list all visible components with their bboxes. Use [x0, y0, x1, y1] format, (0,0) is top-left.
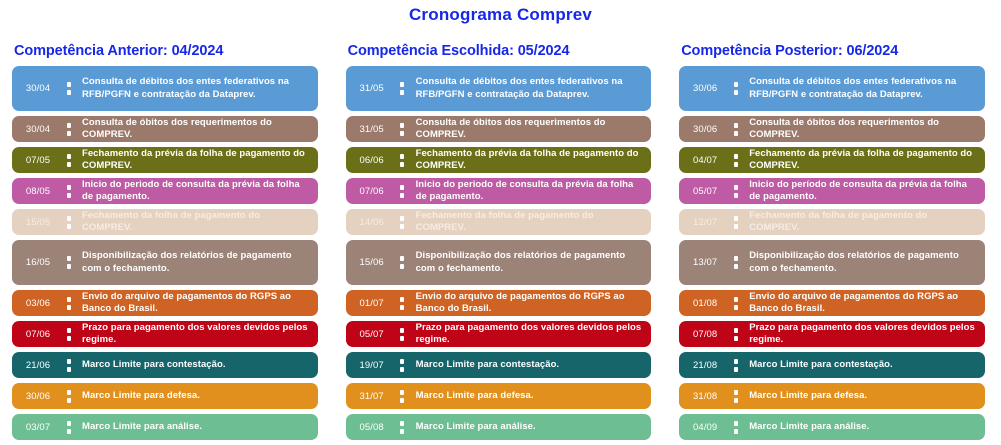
- timeline-row-date: 06/06: [346, 155, 398, 166]
- timeline-row-label: Disponibilização dos relatórios de pagam…: [740, 250, 985, 275]
- timeline-row-date: 30/06: [679, 124, 731, 135]
- timeline-row-label: Consulta de débitos dos entes federativo…: [740, 76, 985, 101]
- timeline-row-date: 05/08: [346, 422, 398, 433]
- timeline-row-label: Inicio do período de consulta da prévia …: [740, 179, 985, 204]
- timeline-row-date: 31/07: [346, 391, 398, 402]
- dashed-divider-icon: [64, 290, 73, 316]
- timeline-row-date: 21/06: [12, 360, 64, 371]
- timeline-row-date: 07/06: [346, 186, 398, 197]
- dashed-divider-icon: [398, 352, 407, 378]
- timeline-row-label: Envio do arquivo de pagamentos do RGPS a…: [740, 291, 985, 316]
- timeline-row-date: 30/04: [12, 124, 64, 135]
- timeline-row[interactable]: 03/06Envio do arquivo de pagamentos do R…: [12, 290, 318, 316]
- timeline-row[interactable]: 07/06Prazo para pagamento dos valores de…: [12, 321, 318, 347]
- timeline-row-label: Consulta de óbitos dos requerimentos do …: [73, 117, 318, 142]
- timeline-row-list: 30/06Consulta de débitos dos entes feder…: [679, 66, 985, 445]
- dashed-divider-icon: [398, 383, 407, 409]
- timeline-row-date: 15/05: [12, 217, 64, 228]
- timeline-row-date: 31/05: [346, 124, 398, 135]
- timeline-row[interactable]: 03/07Marco Limite para análise.: [12, 414, 318, 440]
- timeline-row-date: 31/08: [679, 391, 731, 402]
- timeline-row-date: 03/07: [12, 422, 64, 433]
- column-title: Competência Anterior: 04/2024: [14, 43, 318, 59]
- dashed-divider-icon: [398, 209, 407, 235]
- timeline-row-label: Envio do arquivo de pagamentos do RGPS a…: [73, 291, 318, 316]
- timeline-row[interactable]: 30/06Consulta de débitos dos entes feder…: [679, 66, 985, 111]
- timeline-row[interactable]: 05/07Prazo para pagamento dos valores de…: [346, 321, 652, 347]
- timeline-row-date: 04/09: [679, 422, 731, 433]
- dashed-divider-icon: [731, 178, 740, 204]
- timeline-row[interactable]: 15/05Fechamento da folha de pagamento do…: [12, 209, 318, 235]
- timeline-columns: Competência Anterior: 04/202430/04Consul…: [0, 29, 1001, 445]
- dashed-divider-icon: [731, 414, 740, 440]
- timeline-row-date: 19/07: [346, 360, 398, 371]
- timeline-row-label: Fechamento da folha de pagamento do COMP…: [740, 210, 985, 235]
- timeline-row-list: 30/04Consulta de débitos dos entes feder…: [12, 66, 318, 445]
- dashed-divider-icon: [398, 321, 407, 347]
- timeline-row-label: Disponibilização dos relatórios de pagam…: [73, 250, 318, 275]
- timeline-row-label: Fechamento da folha de pagamento do COMP…: [407, 210, 652, 235]
- timeline-row-label: Disponibilização dos relatórios de pagam…: [407, 250, 652, 275]
- dashed-divider-icon: [731, 209, 740, 235]
- timeline-row-label: Marco Limite para contestação.: [73, 359, 318, 372]
- timeline-row[interactable]: 01/07Envio do arquivo de pagamentos do R…: [346, 290, 652, 316]
- timeline-row-date: 07/05: [12, 155, 64, 166]
- dashed-divider-icon: [64, 321, 73, 347]
- timeline-row-date: 30/04: [12, 83, 64, 94]
- timeline-row-date: 15/06: [346, 257, 398, 268]
- timeline-row-label: Fechamento da prévia da folha de pagamen…: [740, 148, 985, 173]
- timeline-row-label: Marco Limite para defesa.: [740, 390, 985, 403]
- timeline-row[interactable]: 01/08Envio do arquivo de pagamentos do R…: [679, 290, 985, 316]
- timeline-row-label: Marco Limite para contestação.: [740, 359, 985, 372]
- dashed-divider-icon: [398, 240, 407, 285]
- timeline-row[interactable]: 30/06Marco Limite para defesa.: [12, 383, 318, 409]
- timeline-row-label: Consulta de óbitos dos requerimentos do …: [740, 117, 985, 142]
- timeline-row-label: Marco Limite para análise.: [407, 421, 652, 434]
- dashed-divider-icon: [64, 383, 73, 409]
- timeline-row-label: Marco Limite para defesa.: [407, 390, 652, 403]
- timeline-row-label: Consulta de débitos dos entes federativo…: [73, 76, 318, 101]
- dashed-divider-icon: [64, 414, 73, 440]
- timeline-row[interactable]: 15/06Disponibilização dos relatórios de …: [346, 240, 652, 285]
- dashed-divider-icon: [731, 116, 740, 142]
- timeline-column: Competência Anterior: 04/202430/04Consul…: [0, 29, 334, 445]
- timeline-row-label: Inicio do periodo de consulta da prévia …: [407, 179, 652, 204]
- timeline-row-label: Marco Limite para análise.: [740, 421, 985, 434]
- timeline-row[interactable]: 19/07Marco Limite para contestação.: [346, 352, 652, 378]
- timeline-row[interactable]: 30/04Consulta de débitos dos entes feder…: [12, 66, 318, 111]
- timeline-row-label: Consulta de débitos dos entes federativo…: [407, 76, 652, 101]
- dashed-divider-icon: [64, 66, 73, 111]
- dashed-divider-icon: [398, 414, 407, 440]
- dashed-divider-icon: [64, 240, 73, 285]
- timeline-row[interactable]: 21/06Marco Limite para contestação.: [12, 352, 318, 378]
- timeline-row[interactable]: 14/06Fechamento da folha de pagamento do…: [346, 209, 652, 235]
- timeline-row-date: 13/07: [679, 257, 731, 268]
- dashed-divider-icon: [64, 147, 73, 173]
- timeline-row-label: Marco Limite para análise.: [73, 421, 318, 434]
- timeline-row-date: 04/07: [679, 155, 731, 166]
- timeline-row-date: 01/08: [679, 298, 731, 309]
- timeline-row[interactable]: 31/08Marco Limite para defesa.: [679, 383, 985, 409]
- timeline-row[interactable]: 30/04Consulta de óbitos dos requerimento…: [12, 116, 318, 142]
- timeline-row-date: 21/08: [679, 360, 731, 371]
- timeline-row[interactable]: 04/09Marco Limite para análise.: [679, 414, 985, 440]
- timeline-row-date: 01/07: [346, 298, 398, 309]
- timeline-row[interactable]: 04/07Fechamento da prévia da folha de pa…: [679, 147, 985, 173]
- timeline-row[interactable]: 06/06Fechamento da prévia da folha de pa…: [346, 147, 652, 173]
- timeline-row-date: 08/05: [12, 186, 64, 197]
- timeline-row-label: Prazo para pagamento dos valores devidos…: [73, 322, 318, 347]
- timeline-row-label: Fechamento da prévia da folha de pagamen…: [73, 148, 318, 173]
- timeline-row-list: 31/05Consulta de débitos dos entes feder…: [346, 66, 652, 445]
- timeline-row-label: Fechamento da folha de pagamento do COMP…: [73, 210, 318, 235]
- timeline-row-label: Marco Limite para defesa.: [73, 390, 318, 403]
- timeline-row-date: 12/07: [679, 217, 731, 228]
- timeline-row-label: Envio do arquivo de pagamentos do RGPS a…: [407, 291, 652, 316]
- timeline-row[interactable]: 07/06Inicio do periodo de consulta da pr…: [346, 178, 652, 204]
- timeline-row-date: 14/06: [346, 217, 398, 228]
- timeline-row-date: 07/08: [679, 329, 731, 340]
- timeline-row-label: Fechamento da prévia da folha de pagamen…: [407, 148, 652, 173]
- dashed-divider-icon: [731, 240, 740, 285]
- timeline-row-date: 05/07: [679, 186, 731, 197]
- dashed-divider-icon: [398, 66, 407, 111]
- dashed-divider-icon: [64, 116, 73, 142]
- dashed-divider-icon: [398, 147, 407, 173]
- timeline-column: Competência Posterior: 06/202430/06Consu…: [667, 29, 1001, 445]
- dashed-divider-icon: [731, 383, 740, 409]
- timeline-row[interactable]: 05/08Marco Limite para análise.: [346, 414, 652, 440]
- dashed-divider-icon: [731, 290, 740, 316]
- timeline-row[interactable]: 05/07Inicio do período de consulta da pr…: [679, 178, 985, 204]
- timeline-row-label: Prazo para pagamento dos valores devidos…: [740, 322, 985, 347]
- column-title: Competência Escolhida: 05/2024: [348, 43, 652, 59]
- dashed-divider-icon: [64, 209, 73, 235]
- timeline-row-date: 31/05: [346, 83, 398, 94]
- timeline-column: Competência Escolhida: 05/202431/05Consu…: [334, 29, 668, 445]
- column-title: Competência Posterior: 06/2024: [681, 43, 985, 59]
- page-title: Cronograma Comprev: [0, 0, 1001, 29]
- timeline-row[interactable]: 30/06Consulta de óbitos dos requerimento…: [679, 116, 985, 142]
- timeline-row-label: Consulta de óbitos dos requerimentos do …: [407, 117, 652, 142]
- timeline-row-date: 16/05: [12, 257, 64, 268]
- timeline-row[interactable]: 08/05Inicio do periodo de consulta da pr…: [12, 178, 318, 204]
- dashed-divider-icon: [731, 321, 740, 347]
- timeline-row-label: Marco Limite para contestação.: [407, 359, 652, 372]
- dashed-divider-icon: [731, 147, 740, 173]
- dashed-divider-icon: [731, 66, 740, 111]
- timeline-row-label: Prazo para pagamento dos valores devidos…: [407, 322, 652, 347]
- dashed-divider-icon: [398, 116, 407, 142]
- timeline-row[interactable]: 07/08Prazo para pagamento dos valores de…: [679, 321, 985, 347]
- timeline-row[interactable]: 21/08Marco Limite para contestação.: [679, 352, 985, 378]
- timeline-row[interactable]: 31/05Consulta de óbitos dos requerimento…: [346, 116, 652, 142]
- timeline-row[interactable]: 12/07Fechamento da folha de pagamento do…: [679, 209, 985, 235]
- dashed-divider-icon: [64, 178, 73, 204]
- timeline-row[interactable]: 31/07Marco Limite para defesa.: [346, 383, 652, 409]
- dashed-divider-icon: [398, 290, 407, 316]
- timeline-row[interactable]: 16/05Disponibilização dos relatórios de …: [12, 240, 318, 285]
- timeline-row-label: Inicio do periodo de consulta da prévia …: [73, 179, 318, 204]
- timeline-row-date: 05/07: [346, 329, 398, 340]
- timeline-row-date: 30/06: [679, 83, 731, 94]
- timeline-row[interactable]: 07/05Fechamento da prévia da folha de pa…: [12, 147, 318, 173]
- timeline-row-date: 03/06: [12, 298, 64, 309]
- timeline-row[interactable]: 31/05Consulta de débitos dos entes feder…: [346, 66, 652, 111]
- timeline-row-date: 07/06: [12, 329, 64, 340]
- dashed-divider-icon: [64, 352, 73, 378]
- dashed-divider-icon: [398, 178, 407, 204]
- dashed-divider-icon: [731, 352, 740, 378]
- timeline-row[interactable]: 13/07Disponibilização dos relatórios de …: [679, 240, 985, 285]
- timeline-row-date: 30/06: [12, 391, 64, 402]
